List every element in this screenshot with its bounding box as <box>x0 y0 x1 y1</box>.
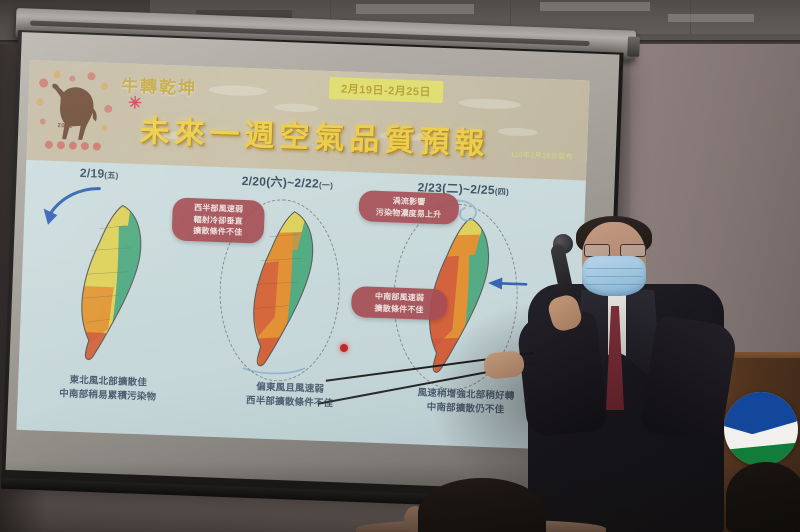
ceiling-light <box>668 14 754 22</box>
ox-year-label: 2021 <box>57 123 72 130</box>
column-date-0: 2/19(五) <box>80 166 119 181</box>
taiwan-map-day-0 <box>59 197 165 369</box>
glasses-icon <box>584 244 644 255</box>
conference-room-scene: 2021 牛轉乾坤 2月19日-2月25日 未來一週空氣品質預報 11 <box>0 0 800 532</box>
wind-arrow-northeast-0 <box>37 180 109 245</box>
slide-main-title: 未來一週空氣品質預報 <box>139 106 490 163</box>
ceiling-light <box>356 4 474 14</box>
date-range-badge: 2月19日-2月25日 <box>329 77 444 103</box>
publish-stamp: 110年2月18日發布 <box>510 150 573 162</box>
callout-west-wind-weak: 西半部風速弱 輻射冷卻垂直 擴散條件不佳 <box>171 197 265 243</box>
callout-central-south-weak: 中南部風速弱 擴散條件不佳 <box>351 286 448 321</box>
roller-end-cap <box>627 36 640 56</box>
face-mask <box>582 256 646 296</box>
caption-day-0: 東北風北部擴散佳 中南部稍易累積污染物 <box>18 372 199 407</box>
ox-zodiac-graphic: 2021 <box>33 66 116 157</box>
ceiling-light <box>540 2 650 11</box>
pointer-tip <box>340 344 348 352</box>
projected-slide: 2021 牛轉乾坤 2月19日-2月25日 未來一週空氣品質預報 11 <box>16 60 589 450</box>
ox-silhouette <box>49 81 99 141</box>
floor-shadow <box>0 462 800 532</box>
column-date-1: 2/20(六)~2/22(一) <box>241 172 333 192</box>
sea-base-line-1 <box>239 354 310 379</box>
slide-header: 2021 牛轉乾坤 2月19日-2月25日 未來一週空氣品質預報 11 <box>26 60 589 180</box>
callout-vortex-effect: 渦流影響 污染物濃度易上升 <box>358 190 459 225</box>
